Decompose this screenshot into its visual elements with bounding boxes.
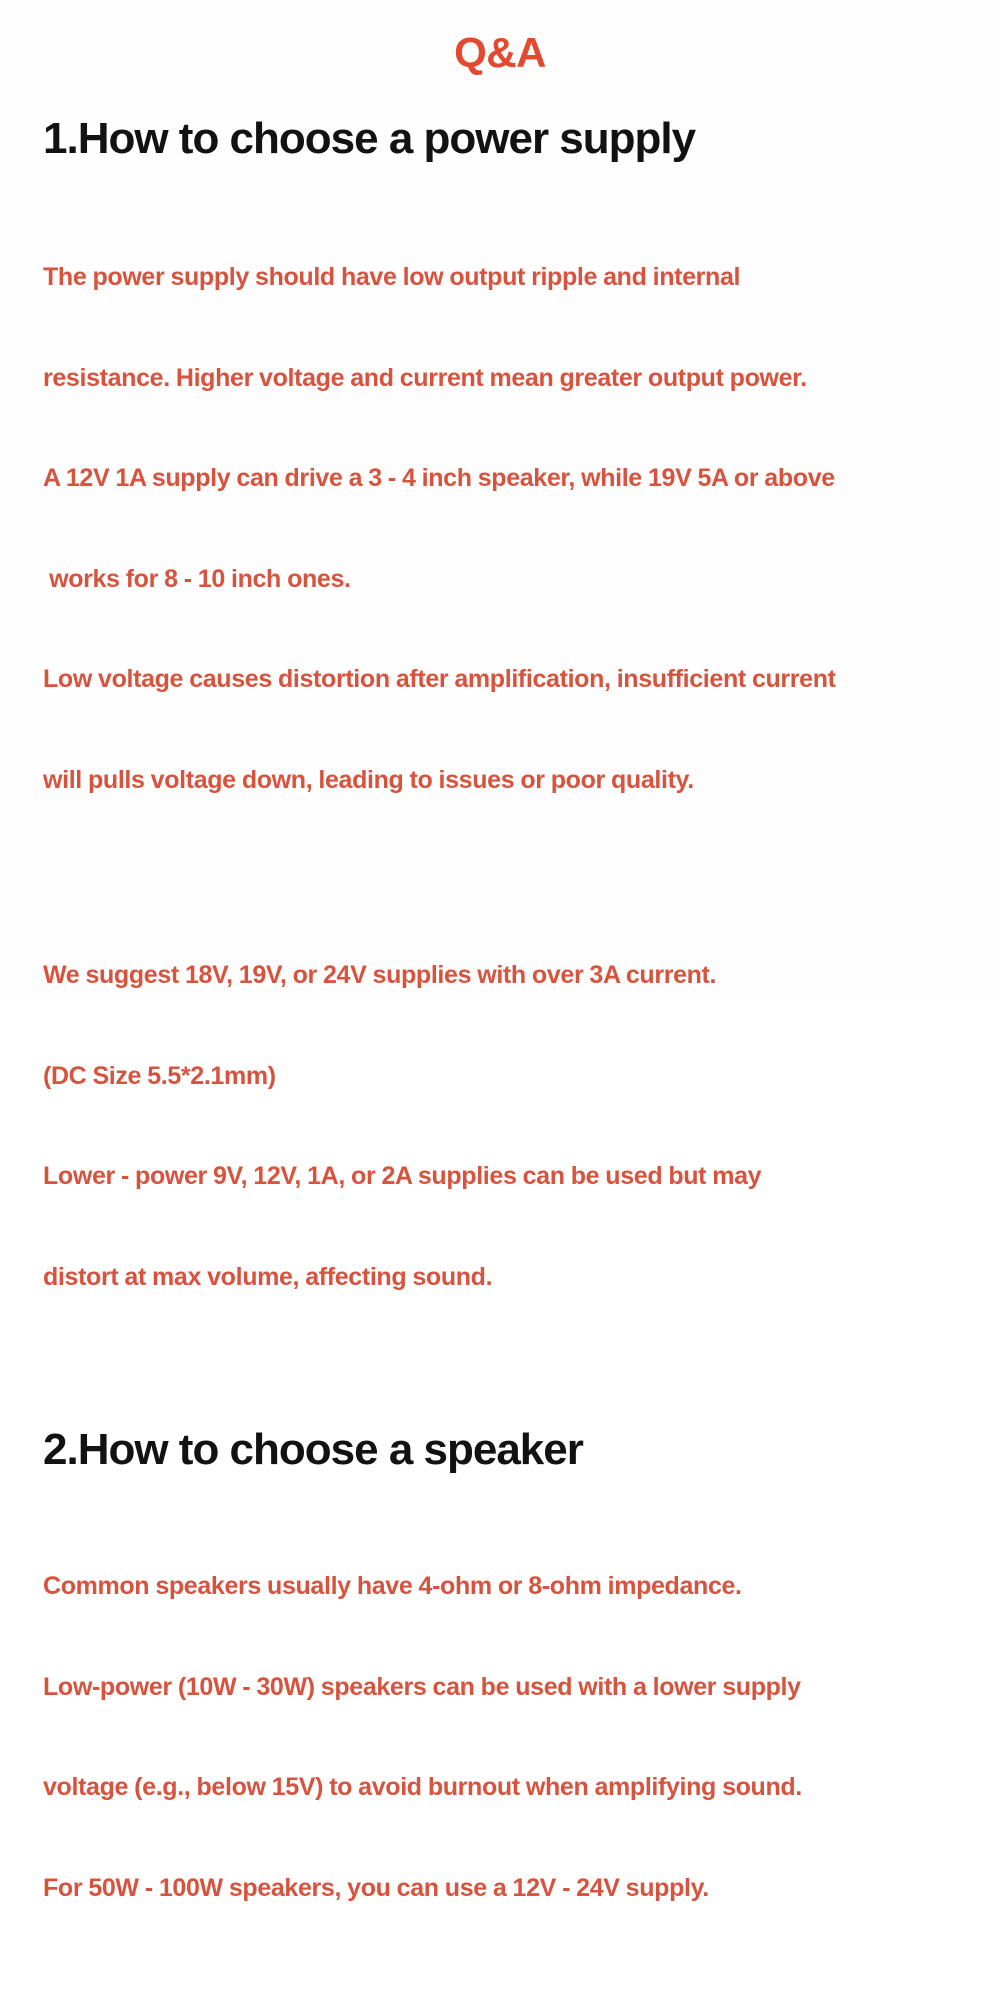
section-1-paragraph-1: The power supply should have low output …: [43, 194, 973, 864]
paragraph-line: For 50W - 100W speakers, you can use a 1…: [43, 1872, 973, 1906]
section-power-supply: 1.How to choose a power supply The power…: [43, 112, 973, 1361]
section-2-paragraph-1: Common speakers usually have 4-ohm or 8-…: [43, 1503, 973, 1972]
paragraph-line: Common speakers usually have 4-ohm or 8-…: [43, 1570, 973, 1604]
paragraph-line: Lower - power 9V, 12V, 1A, or 2A supplie…: [43, 1160, 973, 1194]
paragraph-line: voltage (e.g., below 15V) to avoid burno…: [43, 1771, 973, 1805]
page-title: Q&A: [0, 28, 1000, 78]
paragraph-line: (DC Size 5.5*2.1mm): [43, 1060, 973, 1094]
section-2-heading: 2.How to choose a speaker: [43, 1423, 973, 1477]
qa-page: Q&A 1.How to choose a power supply The p…: [0, 0, 1000, 1000]
paragraph-line: A 12V 1A supply can drive a 3 - 4 inch s…: [43, 462, 973, 496]
section-2-paragraph-2: Higher voltage means more output sound a…: [43, 1999, 973, 2000]
paragraph-line: distort at max volume, affecting sound.: [43, 1261, 973, 1295]
section-speaker: 2.How to choose a speaker Common speaker…: [43, 1423, 973, 2000]
paragraph-line: We suggest 18V, 19V, or 24V supplies wit…: [43, 959, 973, 993]
paragraph-line: works for 8 - 10 inch ones.: [43, 563, 973, 597]
qa-content: 1.How to choose a power supply The power…: [43, 112, 973, 2000]
paragraph-line: will pulls voltage down, leading to issu…: [43, 764, 973, 798]
section-1-paragraph-2: We suggest 18V, 19V, or 24V supplies wit…: [43, 892, 973, 1361]
paragraph-line: Low-power (10W - 30W) speakers can be us…: [43, 1671, 973, 1705]
paragraph-line: Low voltage causes distortion after ampl…: [43, 663, 973, 697]
paragraph-line: resistance. Higher voltage and current m…: [43, 362, 973, 396]
paragraph-spacer: [43, 864, 973, 892]
paragraph-line: The power supply should have low output …: [43, 261, 973, 295]
paragraph-spacer: [43, 1972, 973, 1999]
section-1-heading: 1.How to choose a power supply: [43, 112, 973, 166]
